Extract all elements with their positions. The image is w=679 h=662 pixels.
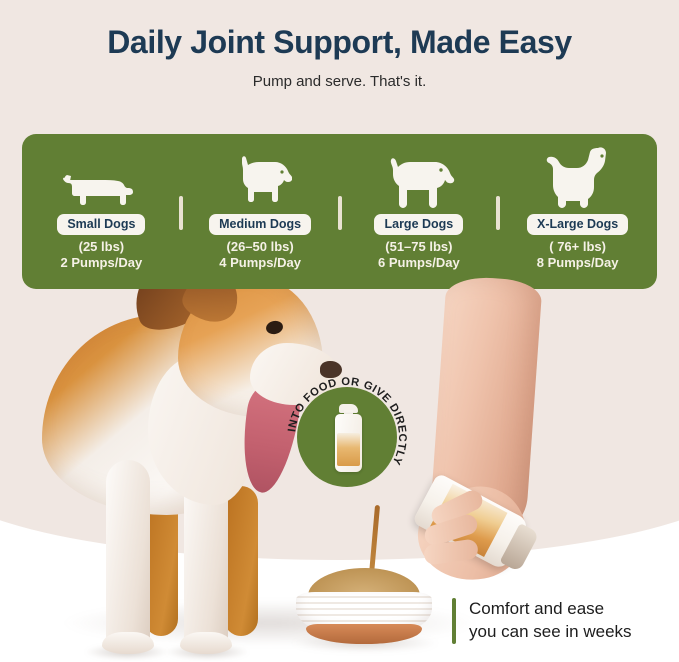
greyhound-silhouette-icon xyxy=(540,150,616,208)
mini-bottle-body xyxy=(335,414,362,472)
tier-label: Large Dogs xyxy=(374,214,463,235)
header: Daily Joint Support, Made Easy Pump and … xyxy=(0,0,679,90)
tier-label: X-Large Dogs xyxy=(527,214,628,235)
dog-paw xyxy=(180,632,232,654)
tier-dose: 6 Pumps/Day xyxy=(378,255,460,271)
dog-hind-leg xyxy=(224,486,258,636)
mix-into-food-badge: MIX INTO FOOD OR GIVE DIRECTLY xyxy=(281,371,413,503)
caption-accent-bar xyxy=(452,598,456,644)
dog-front-leg xyxy=(106,460,150,650)
tier-weight: (25 lbs) xyxy=(79,239,125,255)
benefit-caption: Comfort and ease you can see in weeks xyxy=(452,598,632,644)
caption-line-2: you can see in weeks xyxy=(469,621,632,644)
labrador-silhouette-icon xyxy=(383,150,455,208)
dosing-tier-small: Small Dogs (25 lbs) 2 Pumps/Day xyxy=(22,134,181,289)
product-lifestyle-image: Daily Joint Support, Made Easy Pump and … xyxy=(0,0,679,662)
tier-dose: 2 Pumps/Day xyxy=(61,255,143,271)
tier-weight: ( 76+ lbs) xyxy=(549,239,606,255)
tier-dose: 4 Pumps/Day xyxy=(219,255,301,271)
mini-product-bottle xyxy=(335,404,362,472)
tier-label: Small Dogs xyxy=(57,214,145,235)
page-subtitle: Pump and serve. That's it. xyxy=(0,73,679,90)
caption-text: Comfort and ease you can see in weeks xyxy=(469,598,632,644)
dachshund-silhouette-icon xyxy=(62,150,140,208)
beagle-silhouette-icon xyxy=(228,150,292,208)
tier-weight: (26–50 lbs) xyxy=(227,239,294,255)
food-bowl xyxy=(296,568,432,644)
tier-dose: 8 Pumps/Day xyxy=(537,255,619,271)
caption-line-1: Comfort and ease xyxy=(469,598,632,621)
tier-label: Medium Dogs xyxy=(209,214,311,235)
tier-weight: (51–75 lbs) xyxy=(385,239,452,255)
mini-bottle-label xyxy=(337,433,360,466)
dosing-tier-medium: Medium Dogs (26–50 lbs) 4 Pumps/Day xyxy=(181,134,340,289)
dosing-tier-xlarge: X-Large Dogs ( 76+ lbs) 8 Pumps/Day xyxy=(498,134,657,289)
dosing-tier-large: Large Dogs (51–75 lbs) 6 Pumps/Day xyxy=(340,134,499,289)
dosing-banner: Small Dogs (25 lbs) 2 Pumps/Day Medium D… xyxy=(22,134,657,289)
dog-paw xyxy=(102,632,154,654)
page-title: Daily Joint Support, Made Easy xyxy=(0,24,679,61)
